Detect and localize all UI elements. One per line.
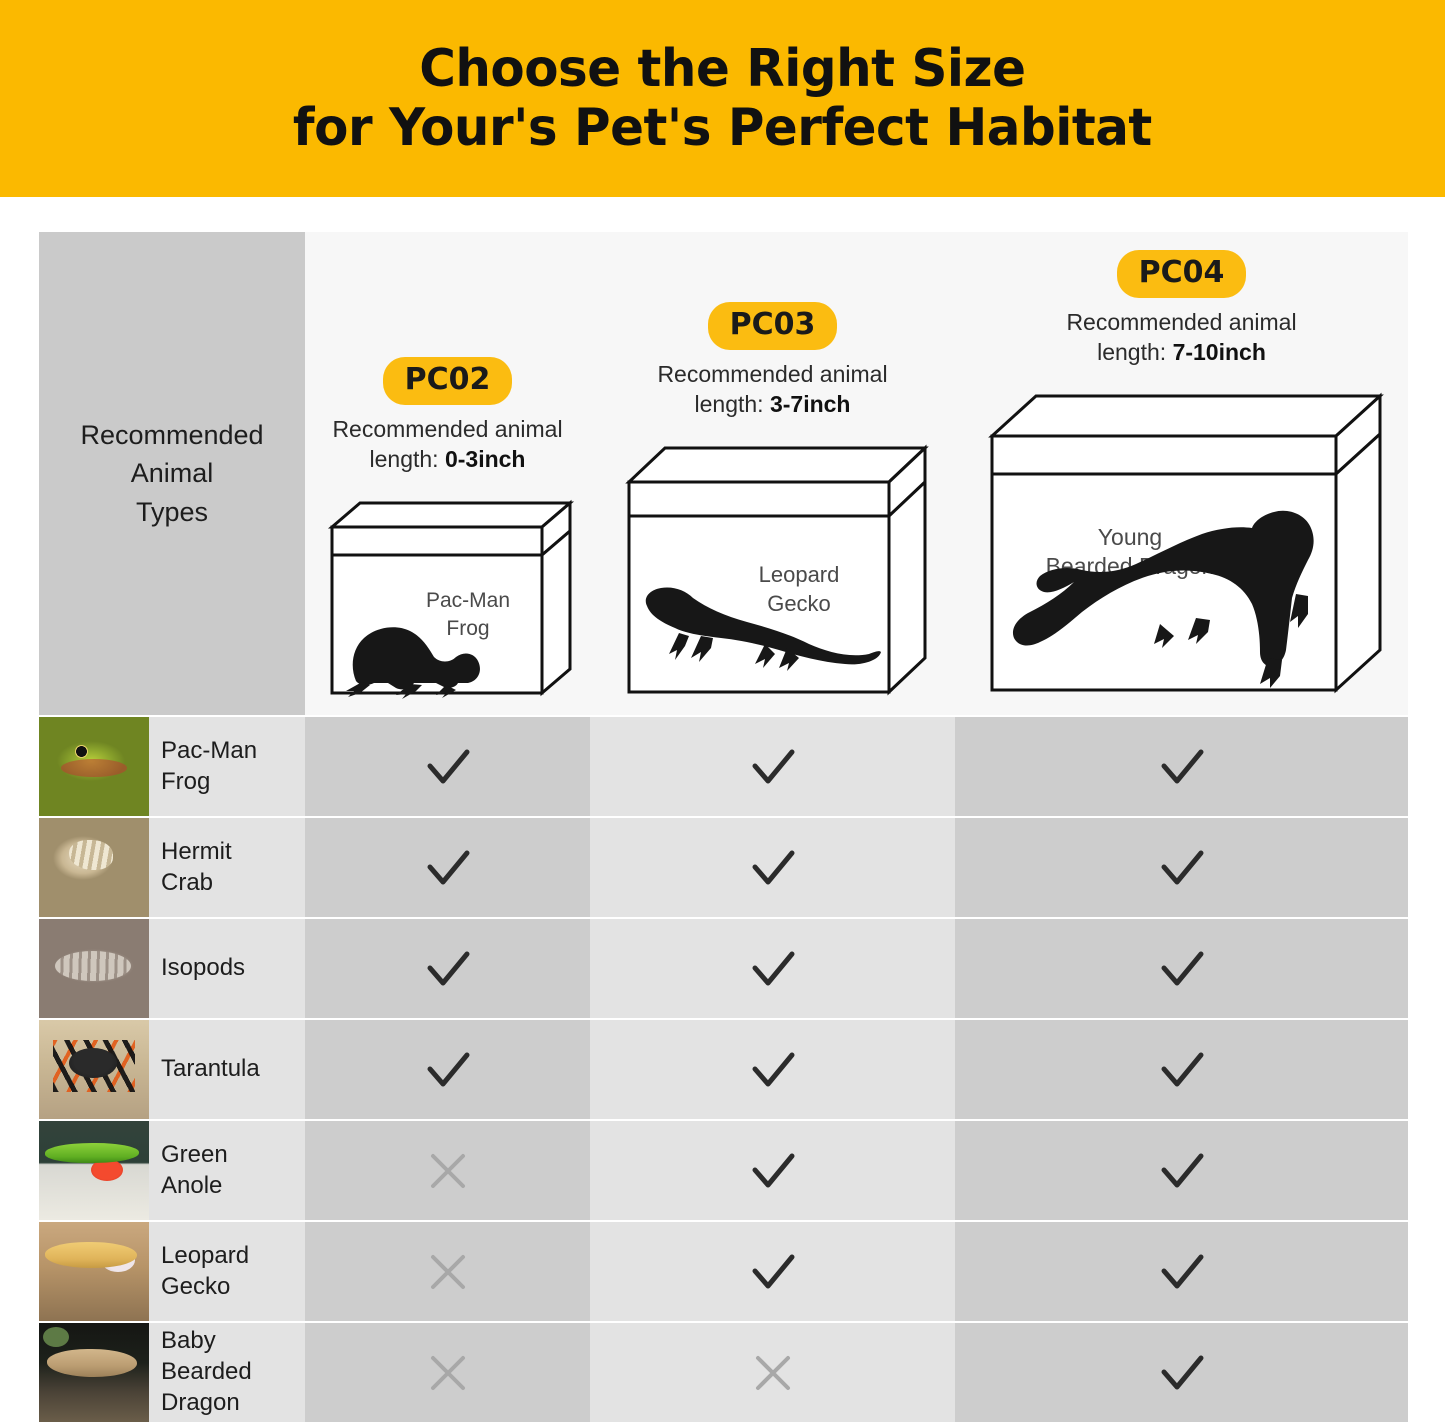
pc04-recommendation: Recommended animal length: 7-10inch [1066,307,1296,368]
tank-label-pc04-line1: Young [1097,524,1161,550]
tank-label-pc03-line2: Gecko [767,591,831,616]
row-label: Tarantula [149,1020,305,1119]
cell-pc02[interactable] [305,1020,590,1119]
page-title-line-1: Choose the Right Size [293,40,1152,98]
row-label: GreenAnole [149,1121,305,1220]
row-label-line-2: Crab [161,869,213,896]
header-banner: Choose the Right Size for Your's Pet's P… [0,0,1445,197]
thumbnail-hermit-crab [39,818,149,917]
cell-pc02[interactable] [305,1222,590,1321]
cell-pc03[interactable] [590,1323,955,1422]
cell-pc04[interactable] [955,717,1408,816]
pc04-rec-value: 7-10inch [1173,339,1266,365]
cross-icon [420,1244,476,1300]
row-label: LeopardGecko [149,1222,305,1321]
row-header-line-3: Types [80,493,263,531]
row-label-line-1: Green [161,1141,228,1168]
badge-pc02: PC02 [383,357,513,404]
check-icon [1154,1143,1210,1199]
page-title-line-2: for Your's Pet's Perfect Habitat [293,99,1152,157]
cell-pc02[interactable] [305,717,590,816]
badge-pc03: PC03 [708,302,838,349]
row-label-line-2: Anole [161,1172,222,1199]
product-columns-header: PC02 Recommended animal length: 0-3inch [305,232,1408,715]
cross-icon [420,1143,476,1199]
cell-pc04[interactable] [955,1020,1408,1119]
table-row: GreenAnole [39,1121,1408,1220]
table-row: Baby BeardedDragon [39,1323,1408,1422]
pc04-rec-label: length: [1097,339,1172,365]
check-icon [745,739,801,795]
row-label: Baby BeardedDragon [149,1323,305,1422]
tank-label-pc03-line1: Leopard [758,562,839,587]
pc02-recommendation: Recommended animal length: 0-3inch [332,414,562,475]
thumbnail-green-anole [39,1121,149,1220]
badge-pc04: PC04 [1117,250,1247,297]
cell-pc04[interactable] [955,1121,1408,1220]
tank-illustration-pc03: Leopard Gecko [613,430,933,715]
tank-illustration-pc02: Pac-Man Frog [318,485,578,715]
table-row: Isopods [39,919,1408,1018]
row-header-line-2: Animal [80,454,263,492]
thumbnail-isopods [39,919,149,1018]
cell-pc03[interactable] [590,1121,955,1220]
thumbnail-pac-man-frog [39,717,149,816]
pc02-rec-prefix: Recommended animal [332,416,562,442]
check-icon [1154,739,1210,795]
check-icon [420,739,476,795]
check-icon [745,1244,801,1300]
cross-icon [745,1345,801,1401]
row-label-line-2: Frog [161,768,210,795]
cell-pc03[interactable] [590,717,955,816]
row-header-line-1: Recommended [80,416,263,454]
cell-pc03[interactable] [590,818,955,917]
row-label: Pac-ManFrog [149,717,305,816]
tank-illustration-pc04: Young Bearded Dragon [978,378,1386,715]
check-icon [420,840,476,896]
cell-pc04[interactable] [955,919,1408,1018]
cell-pc04[interactable] [955,1222,1408,1321]
cell-pc02[interactable] [305,818,590,917]
row-label-line-1: Isopods [161,954,245,981]
product-column-pc02[interactable]: PC02 Recommended animal length: 0-3inch [305,232,590,715]
pc03-rec-prefix: Recommended animal [657,361,887,387]
cell-pc02[interactable] [305,919,590,1018]
comparison-table: Recommended Animal Types PC02 Recommende… [39,232,1408,1422]
pc03-rec-value: 3-7inch [770,391,851,417]
product-column-pc03[interactable]: PC03 Recommended animal length: 3-7inch … [590,232,955,715]
row-label: Isopods [149,919,305,1018]
check-icon [745,1143,801,1199]
row-label: HermitCrab [149,818,305,917]
product-column-pc04[interactable]: PC04 Recommended animal length: 7-10inch… [955,232,1408,715]
pc02-rec-label: length: [370,446,445,472]
thumbnail-leopard-gecko [39,1222,149,1321]
tank-label-pc02-line1: Pac-Man [425,589,509,612]
cell-pc04[interactable] [955,1323,1408,1422]
table-row: HermitCrab [39,818,1408,917]
pc02-rec-value: 0-3inch [445,446,526,472]
check-icon [1154,840,1210,896]
check-icon [420,941,476,997]
cell-pc02[interactable] [305,1121,590,1220]
cell-pc03[interactable] [590,1020,955,1119]
check-icon [1154,1244,1210,1300]
table-row: LeopardGecko [39,1222,1408,1321]
check-icon [745,1042,801,1098]
row-header-column-title: Recommended Animal Types [39,232,305,715]
cell-pc02[interactable] [305,1323,590,1422]
table-row: Pac-ManFrog [39,717,1408,816]
cell-pc03[interactable] [590,919,955,1018]
check-icon [745,840,801,896]
table-header-row: Recommended Animal Types PC02 Recommende… [39,232,1408,715]
row-label-line-1: Hermit [161,838,232,865]
row-label-line-1: Baby Bearded [161,1327,252,1385]
thumbnail-tarantula [39,1020,149,1119]
check-icon [420,1042,476,1098]
pc04-rec-prefix: Recommended animal [1066,309,1296,335]
table-row: Tarantula [39,1020,1408,1119]
check-icon [1154,1042,1210,1098]
row-label-line-2: Gecko [161,1273,230,1300]
thumbnail-baby-bearded-dragon [39,1323,149,1422]
row-label-line-1: Leopard [161,1242,249,1269]
tank-label-pc02-line2: Frog [446,617,489,640]
check-icon [745,941,801,997]
page-title: Choose the Right Size for Your's Pet's P… [293,40,1152,156]
check-icon [1154,941,1210,997]
pc03-rec-label: length: [695,391,770,417]
check-icon [1154,1345,1210,1401]
row-label-line-1: Pac-Man [161,737,257,764]
cell-pc04[interactable] [955,818,1408,917]
cross-icon [420,1345,476,1401]
row-label-line-1: Tarantula [161,1055,260,1082]
pc03-recommendation: Recommended animal length: 3-7inch [657,359,887,420]
table-body: Pac-ManFrog HermitCrab [39,717,1408,1422]
cell-pc03[interactable] [590,1222,955,1321]
row-label-line-2: Dragon [161,1389,240,1416]
